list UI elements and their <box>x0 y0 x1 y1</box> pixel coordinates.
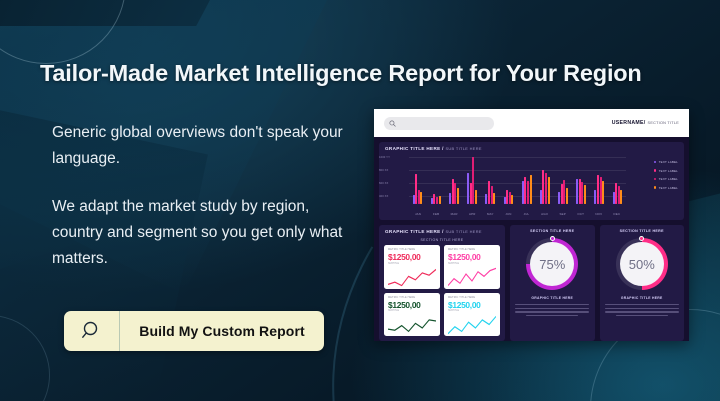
dashboard-mockup: USERNAME/ SECTION TITLE GRAPHIC TITLE HE… <box>374 109 689 341</box>
cards-section-label: SECTION TITLE HERE <box>379 237 505 245</box>
gauge-caption: GRAPHIC TITLE HERE <box>621 296 663 300</box>
metric-card[interactable]: METRIC TITLE HERE$1250,00SUBTITLE <box>384 245 440 289</box>
bar <box>615 183 617 204</box>
y-tick-label: 400 XX <box>379 195 388 198</box>
gauge-body-text <box>605 304 679 318</box>
bar <box>420 192 422 204</box>
bar-group <box>609 156 626 204</box>
x-tick-label: DEC <box>608 212 626 216</box>
page-title: Tailor-Made Market Intelligence Report f… <box>40 60 680 87</box>
metric-card-caption: METRIC TITLE HERE <box>448 296 496 299</box>
gauge-value: 50% <box>616 238 668 290</box>
bar-group <box>573 156 590 204</box>
x-tick-label: AGO <box>536 212 554 216</box>
bg-circle-bottom-left <box>0 315 50 401</box>
metric-card-sublabel: SUBTITLE <box>388 263 436 265</box>
metric-card-caption: METRIC TITLE HERE <box>388 248 436 251</box>
x-tick-label: FEB <box>427 212 445 216</box>
dashboard-body: GRAPHIC TITLE HERE / SUB TITLE HERE 1000… <box>374 137 689 341</box>
bar-group <box>536 156 553 204</box>
bar-group <box>445 156 462 204</box>
legend-dot-icon <box>654 169 657 172</box>
bar-group <box>464 156 481 204</box>
bar <box>566 188 568 204</box>
legend-item: TEXT LABEL <box>654 169 678 173</box>
gauge-body-text <box>515 304 589 318</box>
bar <box>584 185 586 204</box>
sparkline-chart <box>448 313 496 336</box>
paragraph-1: Generic global overviews don't speak you… <box>52 120 352 172</box>
metric-card-sublabel: SUBTITLE <box>448 263 496 265</box>
legend-item: TEXT LABEL <box>654 186 678 190</box>
dashboard-search-input[interactable] <box>384 117 494 130</box>
bg-circle-top-left <box>0 0 126 64</box>
bar-group <box>409 156 426 204</box>
dashboard-lower-row: GRAPHIC TITLE HERE / SUB TITLE HERE SECT… <box>379 225 684 341</box>
bar <box>511 195 513 204</box>
y-tick-label: 600 XX <box>379 182 388 185</box>
bar <box>457 188 459 204</box>
slide: Tailor-Made Market Intelligence Report f… <box>0 0 720 401</box>
x-tick-label: MAR <box>445 212 463 216</box>
section-title-label: SECTION TITLE <box>648 121 679 125</box>
y-tick-label: 800 XX <box>379 169 388 172</box>
chart-panel-title: GRAPHIC TITLE HERE / SUB TITLE HERE <box>379 142 684 154</box>
bar <box>488 181 490 204</box>
legend-label: TEXT LABEL <box>659 169 678 173</box>
sparkline-chart <box>388 266 436 289</box>
bar <box>454 183 456 204</box>
x-tick-label: SEP <box>554 212 572 216</box>
metric-card-sublabel: SUBTITLE <box>448 310 496 312</box>
bar-group <box>591 156 608 204</box>
dashboard-topbar: USERNAME/ SECTION TITLE <box>374 109 689 137</box>
bar-group <box>482 156 499 204</box>
metric-card-grid: METRIC TITLE HERE$1250,00SUBTITLEMETRIC … <box>379 245 505 341</box>
search-icon <box>64 311 120 351</box>
chart-title-text: GRAPHIC TITLE HERE / <box>385 146 444 151</box>
gauge-caption: GRAPHIC TITLE HERE <box>531 296 573 300</box>
user-breadcrumb: USERNAME/ SECTION TITLE <box>612 120 679 126</box>
donut-gauge-50: 50% <box>616 238 668 290</box>
bar <box>558 192 560 204</box>
metric-card[interactable]: METRIC TITLE HERE$1250,00SUBTITLE <box>444 293 500 337</box>
bar <box>527 181 529 204</box>
x-tick-label: JUN <box>499 212 517 216</box>
legend-item: TEXT LABEL <box>654 160 678 164</box>
bar-group <box>554 156 571 204</box>
bar <box>439 196 441 204</box>
metric-cards-panel: GRAPHIC TITLE HERE / SUB TITLE HERE SECT… <box>379 225 505 341</box>
cards-title-text: GRAPHIC TITLE HERE / <box>385 229 444 234</box>
x-tick-label: MAY <box>481 212 499 216</box>
gauge-knob <box>550 236 555 241</box>
gauge-panel-2: SECTION TITLE HERE 50% GRAPHIC TITLE HER… <box>600 225 685 341</box>
x-tick-label: NOV <box>590 212 608 216</box>
bar <box>467 173 469 204</box>
x-tick-label: JUL <box>517 212 535 216</box>
metric-card-caption: METRIC TITLE HERE <box>388 296 436 299</box>
metric-card[interactable]: METRIC TITLE HERE$1250,00SUBTITLE <box>444 245 500 289</box>
legend-label: TEXT LABEL <box>659 186 678 190</box>
bar <box>548 177 550 204</box>
gauge-panel-1: SECTION TITLE HERE 75% GRAPHIC TITLE HER… <box>510 225 595 341</box>
body-copy: Generic global overviews don't speak you… <box>52 120 352 272</box>
metric-card-value: $1250,00 <box>388 252 436 262</box>
legend-label: TEXT LABEL <box>659 177 678 181</box>
legend-label: TEXT LABEL <box>659 160 678 164</box>
metric-card-caption: METRIC TITLE HERE <box>448 248 496 251</box>
legend-dot-icon <box>654 161 657 164</box>
bar <box>415 174 417 204</box>
x-tick-label: OCT <box>572 212 590 216</box>
bar <box>602 181 604 204</box>
x-tick-label: APR <box>463 212 481 216</box>
cards-subtitle-text: SUB TITLE HERE <box>445 229 481 234</box>
bar-groups <box>409 156 626 204</box>
bar <box>576 179 578 204</box>
y-axis: 1000 YY800 XX600 XX400 XX <box>379 156 401 204</box>
x-axis-labels: JANFEBMARAPRMAYJUNJULAGOSEPOCTNOVDEC <box>409 212 626 216</box>
bar <box>493 193 495 204</box>
paragraph-2: We adapt the market study by region, cou… <box>52 194 352 272</box>
donut-gauge-75: 75% <box>526 238 578 290</box>
legend-item: TEXT LABEL <box>654 177 678 181</box>
chart-legend: TEXT LABELTEXT LABELTEXT LABELTEXT LABEL <box>654 160 678 194</box>
gauge-value: 75% <box>526 238 578 290</box>
bar <box>530 175 532 204</box>
bar-group <box>518 156 535 204</box>
username-label: USERNAME/ <box>612 120 646 126</box>
sparkline-chart <box>448 266 496 289</box>
bar <box>545 173 547 204</box>
metric-card-value: $1250,00 <box>388 300 436 310</box>
bar-chart-panel: GRAPHIC TITLE HERE / SUB TITLE HERE 1000… <box>379 142 684 220</box>
metric-card[interactable]: METRIC TITLE HERE$1250,00SUBTITLE <box>384 293 440 337</box>
chart-subtitle-text: SUB TITLE HERE <box>445 146 481 151</box>
legend-dot-icon <box>654 178 657 181</box>
bar <box>597 175 599 204</box>
y-tick-label: 1000 YY <box>379 156 390 159</box>
bar <box>475 190 477 204</box>
x-tick-label: JAN <box>409 212 427 216</box>
metric-card-sublabel: SUBTITLE <box>388 310 436 312</box>
legend-dot-icon <box>654 186 657 189</box>
bar <box>620 190 622 204</box>
cta-label: Build My Custom Report <box>120 323 324 339</box>
build-custom-report-button[interactable]: Build My Custom Report <box>64 311 324 351</box>
bar <box>506 190 508 204</box>
bar <box>449 193 451 204</box>
bar <box>563 180 565 204</box>
bar-group <box>500 156 517 204</box>
bar-chart-plot: 1000 YY800 XX600 XX400 XX <box>387 156 626 204</box>
search-icon <box>389 120 396 127</box>
cards-panel-title: GRAPHIC TITLE HERE / SUB TITLE HERE <box>379 225 505 237</box>
metric-card-value: $1250,00 <box>448 300 496 310</box>
bar <box>436 197 438 204</box>
bar-group <box>427 156 444 204</box>
metric-card-value: $1250,00 <box>448 252 496 262</box>
sparkline-chart <box>388 313 436 336</box>
bg-top-strip <box>0 0 210 26</box>
